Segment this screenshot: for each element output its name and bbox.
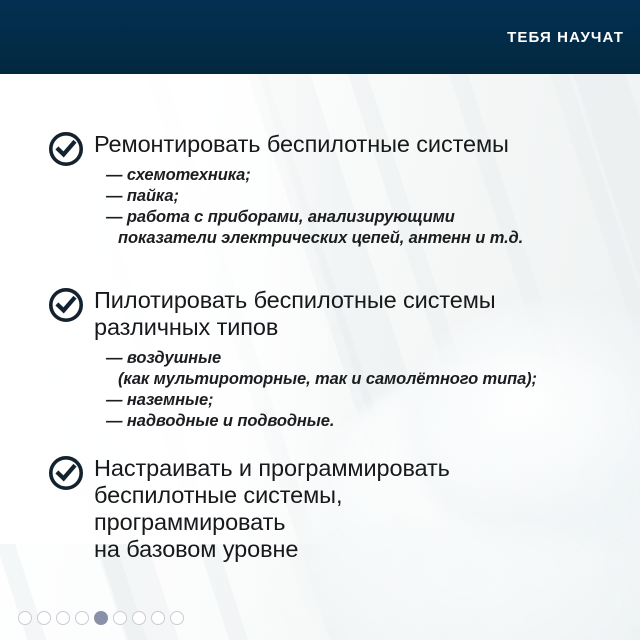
pagination-dot[interactable] xyxy=(37,611,51,625)
benefit-sub-item: — надводные и подводные. xyxy=(106,411,626,432)
pagination-dot[interactable] xyxy=(132,611,146,625)
pagination-dot[interactable] xyxy=(18,611,32,625)
pagination-dot[interactable] xyxy=(75,611,89,625)
pagination-dot[interactable] xyxy=(113,611,127,625)
benefit-heading: Пилотировать беспилотные системы различн… xyxy=(94,287,626,341)
benefit-body: Ремонтировать беспилотные системы — схем… xyxy=(94,130,626,249)
benefit-heading: Настраивать и программировать беспилотны… xyxy=(94,455,626,563)
benefit-body: Настраивать и программировать беспилотны… xyxy=(94,454,626,563)
benefit-body: Пилотировать беспилотные системы различн… xyxy=(94,286,626,432)
benefit-sub-item: — схемотехника; xyxy=(106,165,626,186)
pagination-dot[interactable] xyxy=(170,611,184,625)
benefit-sub-item: — работа с приборами, анализирующими пок… xyxy=(106,207,626,249)
benefit-sub-item: — воздушные (как мультироторные, так и с… xyxy=(106,348,626,390)
pagination-dot-active[interactable] xyxy=(94,611,108,625)
benefit-heading: Ремонтировать беспилотные системы xyxy=(94,131,626,158)
header-bar: ТЕБЯ НАУЧАТ xyxy=(0,0,640,74)
benefit-block: Настраивать и программировать беспилотны… xyxy=(48,454,626,563)
benefit-sub-list: — воздушные (как мультироторные, так и с… xyxy=(94,348,626,432)
benefit-sub-list: — схемотехника; — пайка; — работа с приб… xyxy=(94,165,626,249)
pagination-dot[interactable] xyxy=(56,611,70,625)
check-circle-icon xyxy=(48,131,84,167)
check-circle-icon xyxy=(48,455,84,491)
slide-canvas: ТЕБЯ НАУЧАТ Ремонтировать беспилотные си… xyxy=(0,0,640,640)
benefit-sub-item: — пайка; xyxy=(106,186,626,207)
pagination-dot[interactable] xyxy=(151,611,165,625)
benefit-block: Пилотировать беспилотные системы различн… xyxy=(48,286,626,432)
pagination-dots[interactable] xyxy=(18,611,184,625)
benefit-sub-item: — наземные; xyxy=(106,390,626,411)
header-title: ТЕБЯ НАУЧАТ xyxy=(507,29,624,46)
benefit-block: Ремонтировать беспилотные системы — схем… xyxy=(48,130,626,249)
check-circle-icon xyxy=(48,287,84,323)
